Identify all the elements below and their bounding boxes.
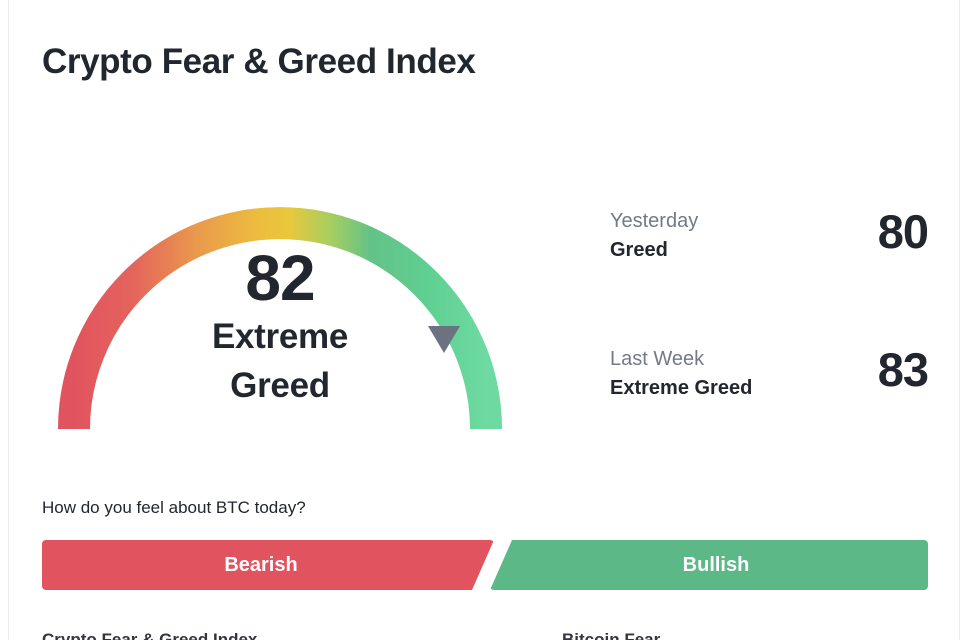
- comparison-stats: Yesterday Greed 80 Last Week Extreme Gre…: [610, 206, 928, 412]
- card-border-right: [959, 0, 960, 640]
- stat-value: 83: [878, 346, 928, 393]
- next-section-title-left: Crypto Fear & Greed Index: [42, 631, 928, 640]
- stat-row-last-week: Last Week Extreme Greed 83: [610, 344, 928, 412]
- stat-value: 80: [878, 208, 928, 255]
- stat-row-yesterday: Yesterday Greed 80: [610, 206, 928, 274]
- poll-buttons: Bearish Bullish: [42, 540, 928, 590]
- gauge-arc: [42, 190, 518, 430]
- index-card: Crypto Fear & Greed Index: [9, 0, 959, 640]
- gauge-needle-icon: [428, 326, 460, 353]
- bullish-vote-button[interactable]: Bullish: [490, 540, 928, 590]
- page-title: Crypto Fear & Greed Index: [42, 42, 475, 82]
- poll-question: How do you feel about BTC today?: [42, 498, 306, 518]
- next-section-title-right: Bitcoin Fear: [562, 631, 660, 640]
- next-section-clipped: Crypto Fear & Greed Index Bitcoin Fear: [42, 631, 928, 640]
- fear-greed-gauge: 82 Extreme Greed: [42, 190, 518, 430]
- bearish-vote-button[interactable]: Bearish: [42, 540, 494, 590]
- fear-greed-index-page: Crypto Fear & Greed Index: [0, 0, 968, 640]
